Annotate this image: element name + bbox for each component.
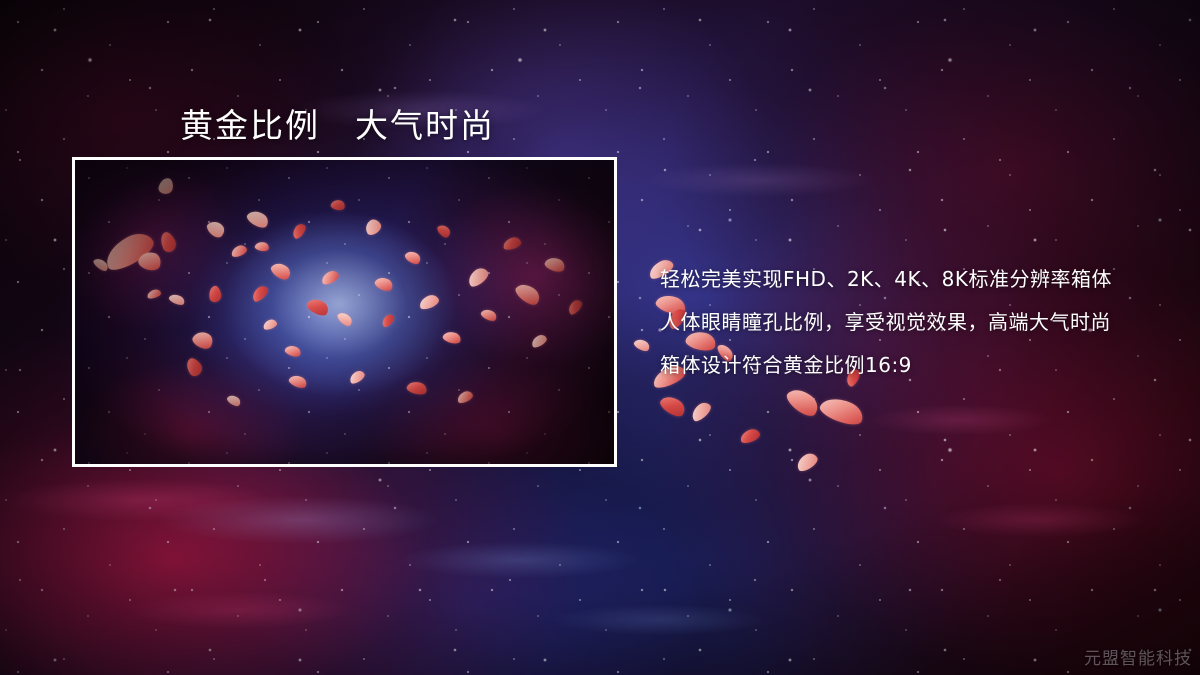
petal [794, 450, 820, 473]
photo-content [75, 160, 614, 464]
page-title: 黄金比例 大气时尚 [180, 99, 495, 147]
petal [739, 427, 762, 445]
body-text-block: 轻松完美实现FHD、2K、4K、8K标准分辨率箱体 人体眼睛瞳孔比例，享受视觉效… [660, 258, 1180, 387]
petal [817, 393, 866, 430]
slide-canvas: 黄金比例 大气时尚 轻松完美实现FHD、2K、4K、8K标准分辨率箱体 人体眼睛… [0, 0, 1200, 675]
petal [658, 392, 688, 420]
body-line-3: 箱体设计符合黄金比例16:9 [660, 344, 1180, 387]
watermark: 元盟智能科技 [1084, 644, 1192, 669]
petal [633, 337, 652, 354]
body-line-1: 轻松完美实现FHD、2K、4K、8K标准分辨率箱体 [660, 258, 1180, 301]
framed-photo [72, 157, 617, 467]
petal [784, 383, 823, 420]
body-line-2: 人体眼睛瞳孔比例，享受视觉效果，高端大气时尚 [660, 301, 1180, 344]
photo-vignette [75, 160, 614, 464]
petal [688, 399, 713, 423]
